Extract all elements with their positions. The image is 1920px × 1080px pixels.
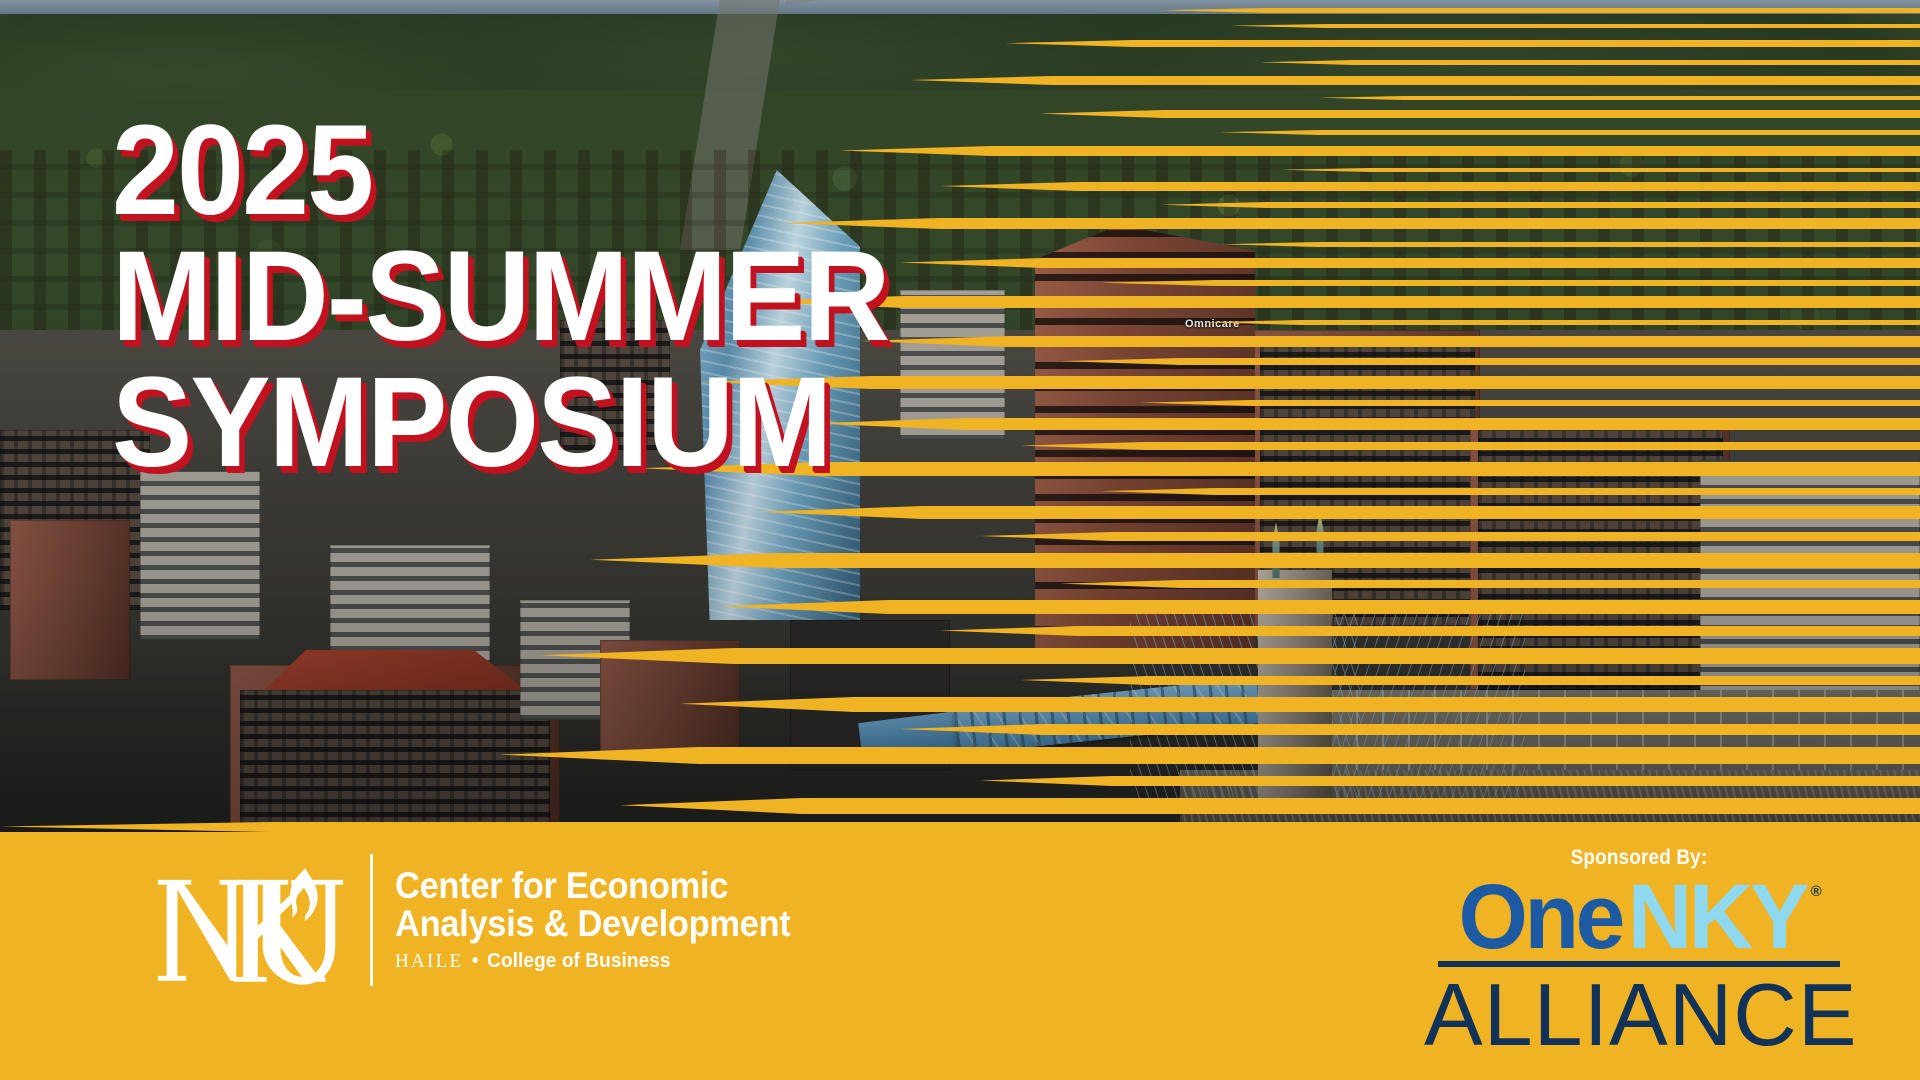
- bullet-separator: •: [472, 950, 479, 973]
- ced-subline: HAILE • College of Business: [395, 950, 799, 973]
- title-line-year: 2025: [112, 112, 889, 230]
- registered-trademark-icon: ®: [1811, 886, 1822, 899]
- logo-divider: [370, 854, 373, 986]
- college-of-business-label: College of Business: [487, 950, 670, 973]
- bridge-pylon: [1258, 570, 1332, 800]
- haile-label: HAILE: [395, 950, 463, 973]
- onenky-wordmark: One NKY ®: [1424, 878, 1854, 957]
- nku-logo-icon: [152, 854, 348, 986]
- building: [10, 520, 130, 680]
- omnicare-label: Omnicare: [1185, 318, 1240, 330]
- ced-wordmark: Center for Economic Analysis & Developme…: [395, 867, 820, 973]
- poster-title: 2025 MID-SUMMER SYMPOSIUM: [112, 112, 938, 481]
- nku-ced-lockup: Center for Economic Analysis & Developme…: [152, 854, 820, 986]
- ced-line-2: Analysis & Development: [395, 905, 790, 943]
- building-windows: [240, 690, 550, 830]
- alliance-text: ALLIANCE: [1424, 971, 1854, 1059]
- building: [600, 640, 740, 760]
- building: [1700, 460, 1920, 700]
- ced-line-1: Center for Economic: [395, 867, 790, 905]
- poster-root: Omnicare 2025 MID-SUMMER SYMPOSIUM: [0, 0, 1920, 1080]
- onenky-one-text: One: [1459, 878, 1622, 957]
- gold-footer-bar: Center for Economic Analysis & Developme…: [0, 832, 1920, 1080]
- title-line-symposium: SYMPOSIUM: [112, 364, 889, 482]
- omnicare-tower: [1035, 225, 1255, 655]
- building: [140, 470, 260, 640]
- sponsor-lockup: Sponsored By: One NKY ® ALLIANCE: [1424, 846, 1854, 1059]
- building: [330, 545, 490, 665]
- title-line-midsummer: MID-SUMMER: [112, 238, 889, 356]
- onenky-nky-text: NKY: [1628, 878, 1806, 957]
